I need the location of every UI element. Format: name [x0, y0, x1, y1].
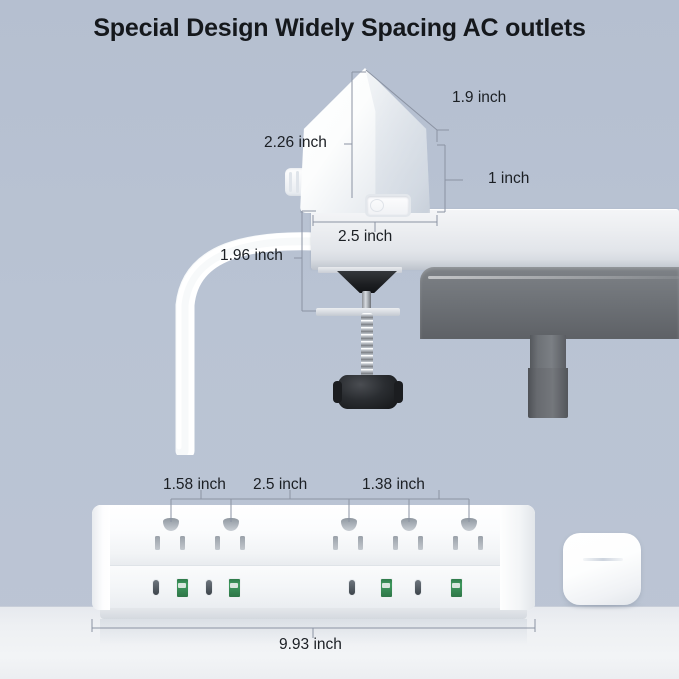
- clamp-pad: [337, 271, 397, 293]
- dim-label-spacing-3: 1.38 inch: [362, 476, 425, 494]
- ac-outlet-1[interactable]: [152, 518, 190, 554]
- clamp-knob[interactable]: [337, 375, 399, 409]
- ferrule-rib-2: [296, 171, 299, 193]
- clamp-screw: [361, 313, 373, 383]
- dim-label-clamp-opening: 1.96 inch: [220, 247, 283, 265]
- desk-leg-lower: [528, 368, 568, 418]
- dim-label-total-length: 9.93 inch: [279, 636, 342, 654]
- desk-leg-upper: [530, 335, 566, 369]
- ferrule-rib-1: [289, 172, 292, 192]
- ac-outlet-3[interactable]: [330, 518, 368, 554]
- power-strip-base: [100, 608, 527, 619]
- earbuds-charging-case: [563, 533, 641, 605]
- desk-clamp-scene: [0, 55, 679, 450]
- dim-label-plug-depth: 2.5 inch: [338, 228, 392, 246]
- infographic-canvas: Special Design Widely Spacing AC outlets: [0, 0, 679, 679]
- ac-outlet-2[interactable]: [212, 518, 250, 554]
- clamp-lower-bar: [316, 308, 400, 316]
- dim-label-spacing-1: 1.58 inch: [163, 476, 226, 494]
- usb-c-port-4[interactable]: [414, 579, 422, 596]
- page-title: Special Design Widely Spacing AC outlets: [0, 14, 679, 43]
- outlet-slot-right: [478, 536, 483, 550]
- dim-label-spacing-2: 2.5 inch: [253, 476, 307, 494]
- usb-c-port-3[interactable]: [348, 579, 356, 596]
- usb-a-port-4[interactable]: [450, 578, 463, 598]
- outlet-ground-hole: [341, 518, 357, 531]
- outlet-slot-right: [240, 536, 245, 550]
- outlet-slot-right: [358, 536, 363, 550]
- ac-outlet-5[interactable]: [450, 518, 488, 554]
- usb-a-port-1[interactable]: [176, 578, 189, 598]
- outlet-slot-left: [393, 536, 398, 550]
- power-switch[interactable]: [365, 194, 411, 217]
- outlet-slot-right: [418, 536, 423, 550]
- ac-outlet-4[interactable]: [390, 518, 428, 554]
- power-cable: [130, 155, 320, 455]
- outlet-slot-left: [453, 536, 458, 550]
- dim-label-plug-diagonal: 1.9 inch: [452, 89, 506, 107]
- usb-c-port-2[interactable]: [205, 579, 213, 596]
- outlet-slot-left: [155, 536, 160, 550]
- outlet-ground-hole: [163, 518, 179, 531]
- outlet-slot-right: [180, 536, 185, 550]
- desk-underside-highlight: [428, 276, 679, 279]
- power-strip-front-face: [96, 565, 535, 611]
- outlet-ground-hole: [223, 518, 239, 531]
- usb-a-port-3[interactable]: [380, 578, 393, 598]
- outlet-ground-hole: [401, 518, 417, 531]
- usb-c-port-1[interactable]: [152, 579, 160, 596]
- earbuds-case-seam: [583, 558, 623, 561]
- outlet-slot-left: [333, 536, 338, 550]
- outlet-ground-hole: [461, 518, 477, 531]
- power-strip-right-cap: [500, 505, 535, 610]
- dim-label-plug-side: 1 inch: [488, 170, 529, 188]
- power-strip-left-cap: [92, 505, 110, 610]
- outlet-slot-left: [215, 536, 220, 550]
- dim-label-plug-height: 2.26 inch: [264, 134, 327, 152]
- usb-a-port-2[interactable]: [228, 578, 241, 598]
